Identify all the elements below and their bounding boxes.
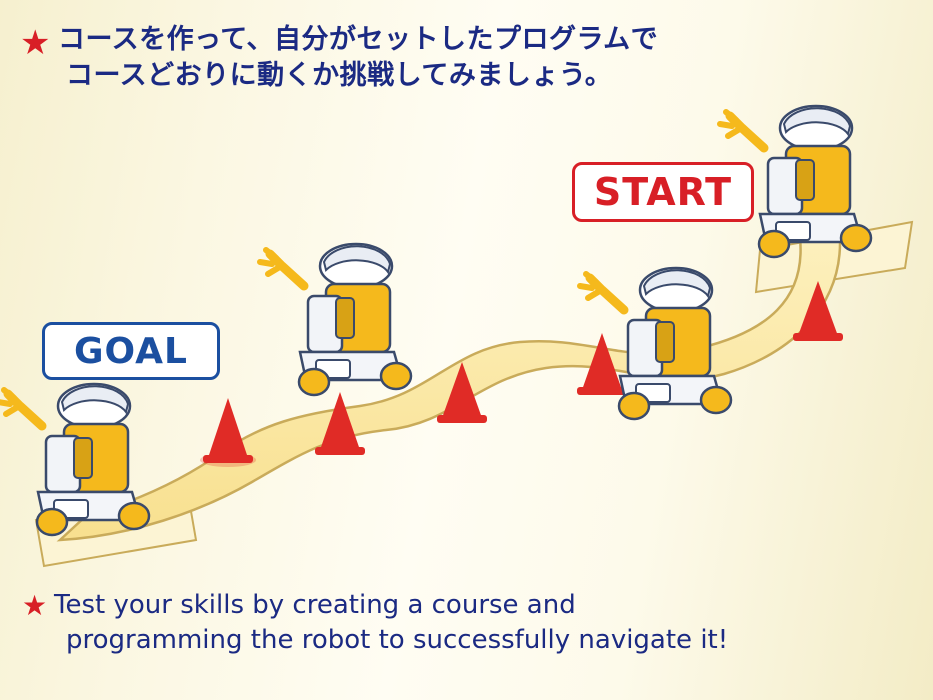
caption-english-line-2: programming the robot to successfully na… <box>22 623 912 658</box>
headline-japanese-line-2: コースどおりに動くか挑戦してみましょう。 <box>22 58 782 94</box>
cone-1 <box>200 398 256 467</box>
illustration-stage: ★ コースを作って、自分がセットしたプログラムで コースどおりに動くか挑戦してみ… <box>0 0 933 700</box>
robot-goal <box>0 384 149 535</box>
course-path <box>36 222 912 566</box>
caption-english-line-1: Test your skills by creating a course an… <box>22 588 912 623</box>
robot-mid-left <box>260 244 411 395</box>
goal-label: GOAL <box>42 322 220 380</box>
headline-japanese-line-1: コースを作って、自分がセットしたプログラムで <box>22 22 782 58</box>
caption-english: Test your skills by creating a course an… <box>22 588 912 658</box>
start-label: START <box>572 162 754 222</box>
headline-japanese: コースを作って、自分がセットしたプログラムで コースどおりに動くか挑戦してみまし… <box>22 22 782 94</box>
